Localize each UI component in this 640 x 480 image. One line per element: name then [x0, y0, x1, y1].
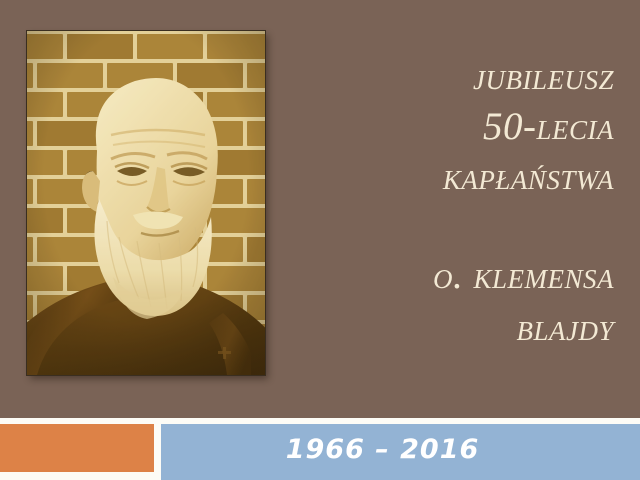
portrait-photo — [27, 31, 265, 375]
slide-subtitle: O. Klemensa Blajdy — [234, 250, 614, 354]
presentation-slide: Jubileusz 50-lecia Kapłaństwa O. Klemens… — [0, 0, 640, 480]
title-line-1: Jubileusz — [234, 52, 614, 102]
subtitle-line-2: Blajdy — [234, 302, 614, 354]
footer-years-bar: 1966 – 2016 — [161, 424, 640, 480]
footer-accent-block — [0, 424, 154, 472]
portrait-photo-inner — [27, 31, 265, 375]
title-line-3: Kapłaństwa — [234, 152, 614, 202]
slide-title: Jubileusz 50-lecia Kapłaństwa — [234, 52, 614, 202]
portrait-illustration — [27, 31, 265, 375]
title-line-2: 50-lecia — [234, 102, 614, 152]
subtitle-line-1: O. Klemensa — [234, 250, 614, 302]
footer-years-label: 1966 – 2016 — [286, 434, 480, 465]
